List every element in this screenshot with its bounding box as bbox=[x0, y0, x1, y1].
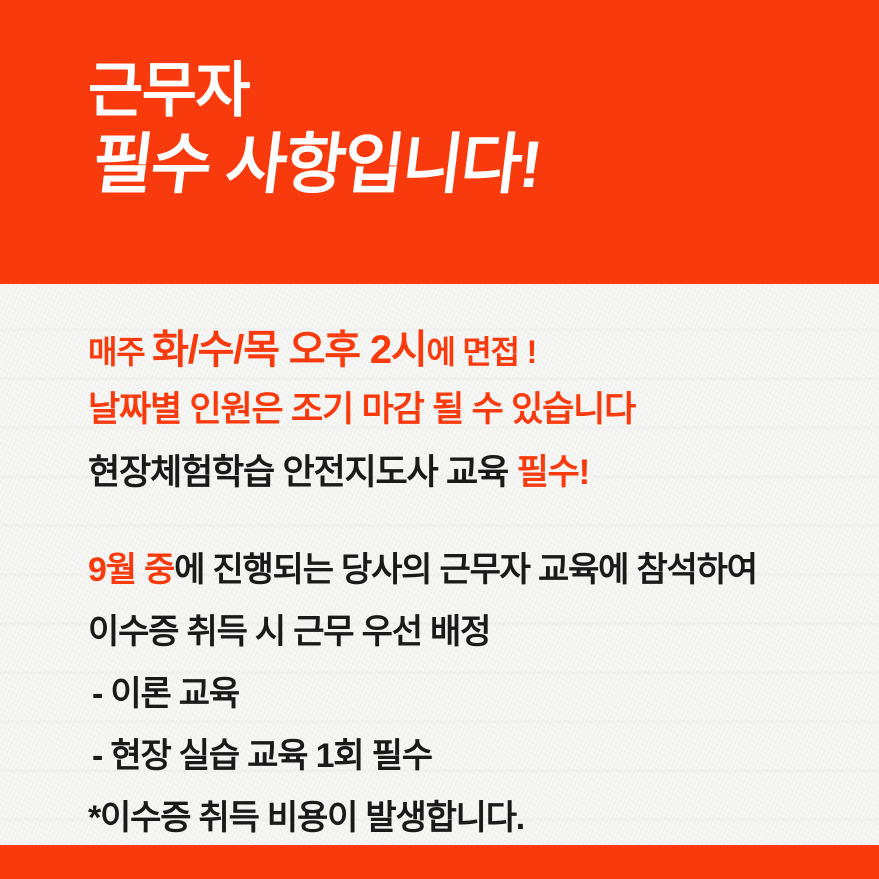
header-title-group: 근무자 필수 사항입니다! bbox=[88, 58, 535, 202]
header-banner: 근무자 필수 사항입니다! bbox=[0, 0, 879, 284]
schedule-line-3-part-1: 현장체험학습 안전지도사 교육 bbox=[88, 453, 517, 492]
schedule-line-1-part-1: 매주 bbox=[88, 334, 152, 370]
training-line-1-part-2: 에 진행되는 당사의 근무자 교육에 참석하여 bbox=[174, 551, 757, 589]
schedule-line-1: 매주 화/수/목 오후 2시에 면접 ! bbox=[88, 327, 848, 373]
header-title-line-1: 근무자 bbox=[88, 58, 535, 124]
schedule-line-2: 날짜별 인원은 조기 마감 될 수 있습니다 bbox=[88, 386, 848, 434]
body-content: 매주 화/수/목 오후 2시에 면접 ! 날짜별 인원은 조기 마감 될 수 있… bbox=[0, 284, 879, 845]
promo-poster: 근무자 필수 사항입니다! 매주 화/수/목 오후 2시에 면접 ! 날짜별 인… bbox=[0, 0, 879, 879]
header-title-line-2: 필수 사항입니다! bbox=[88, 126, 545, 202]
training-block: 9월 중에 진행되는 당사의 근무자 교육에 참석하여 이수증 취득 시 근무 … bbox=[88, 546, 868, 842]
footer-banner bbox=[0, 845, 879, 879]
schedule-line-1-emphasis: 화/수/목 오후 2시 bbox=[152, 328, 426, 372]
schedule-line-1-part-3: 에 면접 ! bbox=[426, 334, 536, 370]
training-line-1: 9월 중에 진행되는 당사의 근무자 교육에 참석하여 bbox=[88, 546, 868, 594]
schedule-line-3: 현장체험학습 안전지도사 교육 필수! bbox=[88, 449, 848, 497]
schedule-line-3-emphasis: 필수! bbox=[517, 453, 589, 492]
training-line-3: - 이론 교육 bbox=[88, 670, 868, 718]
training-line-1-emphasis: 9월 중 bbox=[88, 551, 174, 589]
schedule-block: 매주 화/수/목 오후 2시에 면접 ! 날짜별 인원은 조기 마감 될 수 있… bbox=[88, 327, 848, 497]
training-line-4: - 현장 실습 교육 1회 필수 bbox=[88, 732, 868, 780]
training-line-2: 이수증 취득 시 근무 우선 배정 bbox=[88, 608, 868, 656]
training-line-5: *이수증 취득 비용이 발생합니다. bbox=[88, 794, 868, 842]
